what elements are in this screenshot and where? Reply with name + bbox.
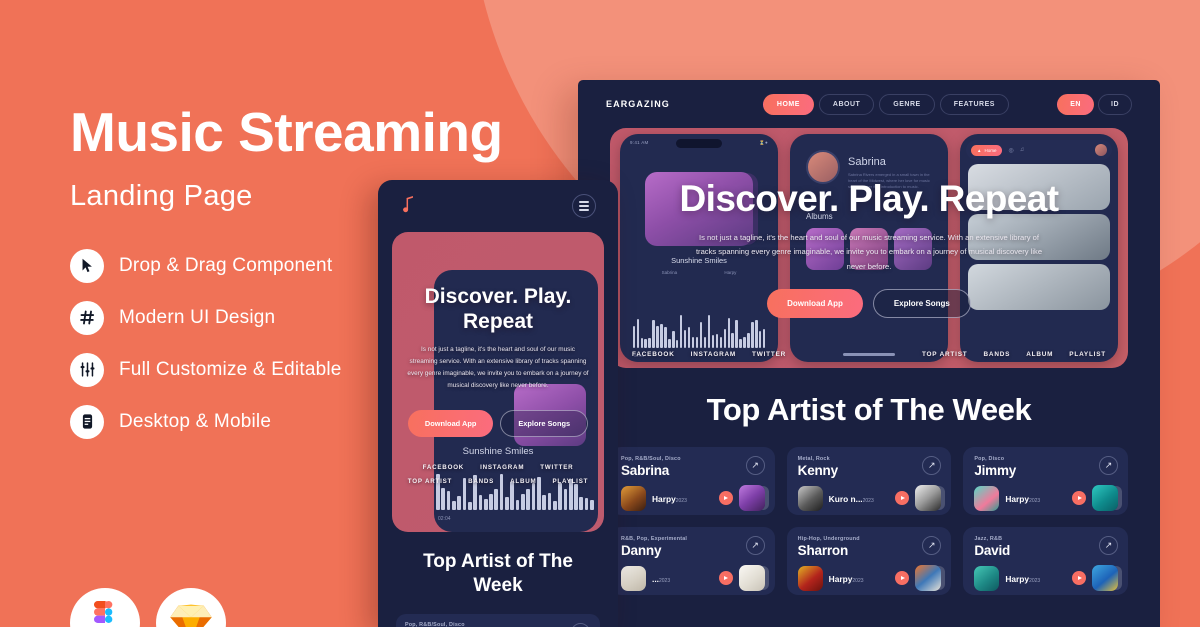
artist-card-genre: Metal, Rock <box>798 456 942 462</box>
hero-link-rows: FACEBOOK INSTAGRAM TWITTER TOP ARTIST BA… <box>610 351 1128 358</box>
mobile-social-link-instagram[interactable]: INSTAGRAM <box>480 464 524 471</box>
language-id[interactable]: ID <box>1098 94 1132 115</box>
figma-logo <box>70 588 140 627</box>
artist-card-arrow-icon[interactable]: ↗ <box>746 536 765 555</box>
artist-card[interactable]: Pop, DiscoJimmy↗Harpy2023 <box>963 447 1128 515</box>
artist-card[interactable]: Jazz, R&BDavid↗Harpy2023 <box>963 527 1128 595</box>
mobile-hero-buttons: Download App Explore Songs <box>408 410 588 437</box>
track-year: 2023 <box>863 498 874 504</box>
track-name: Kuro n... <box>829 494 863 504</box>
mobile-track-title: Sunshine Smiles <box>463 446 534 457</box>
play-button[interactable] <box>1072 571 1086 585</box>
artist-card-name: David <box>974 543 1118 558</box>
mobile-social-links: FACEBOOK INSTAGRAM TWITTER <box>423 464 574 471</box>
artist-card-name: Danny <box>621 543 765 558</box>
feature-label: Drop & Drag Component <box>119 255 332 277</box>
social-link-twitter[interactable]: TWITTER <box>752 351 786 358</box>
nav-menu: HOME ABOUT GENRE FEATURES <box>763 94 1009 115</box>
artist-card-genre: R&B, Pop, Experimental <box>621 536 765 542</box>
feature-label: Desktop & Mobile <box>119 411 271 433</box>
track-name: Harpy <box>1005 574 1029 584</box>
album-cover <box>915 485 941 511</box>
artist-card-track-row: ...2023 <box>621 565 765 591</box>
artist-card-arrow-icon[interactable]: ↗ <box>1099 456 1118 475</box>
nav-item-genre[interactable]: GENRE <box>879 94 934 115</box>
feature-label: Full Customize & Editable <box>119 359 342 381</box>
artist-card-genre: Pop, R&B/Soul, Disco <box>621 456 765 462</box>
track-name: Harpy <box>1005 494 1029 504</box>
mobile-hero-title: Discover. Play. Repeat <box>392 284 604 334</box>
desktop-navbar: EARGAZING HOME ABOUT GENRE FEATURES EN I… <box>578 80 1160 128</box>
mobile-mockup: 02:04 Discover. Play. Repeat Is not just… <box>378 180 618 627</box>
hamburger-icon[interactable] <box>572 194 596 218</box>
track-name: Harpy <box>652 494 676 504</box>
hero-copy-overlay: Discover. Play. Repeat Is not just a tag… <box>610 128 1128 368</box>
mobile-category-link-top-artist[interactable]: TOP ARTIST <box>408 478 452 485</box>
mobile-category-links: TOP ARTIST BANDS ALBUM PLAYLIST <box>408 478 588 485</box>
sliders-icon <box>70 353 104 387</box>
track-thumbnail <box>621 486 646 511</box>
social-link-facebook[interactable]: FACEBOOK <box>632 351 675 358</box>
mobile-category-link-album[interactable]: ALBUM <box>510 478 536 485</box>
explore-songs-button[interactable]: Explore Songs <box>873 289 971 318</box>
mobile-hero-section: 02:04 Discover. Play. Repeat Is not just… <box>392 232 604 532</box>
play-button[interactable] <box>719 491 733 505</box>
mobile-hero-overlay: Discover. Play. Repeat Is not just a tag… <box>392 232 604 532</box>
mobile-icon <box>70 405 104 439</box>
hero-buttons: Download App Explore Songs <box>767 289 971 318</box>
play-button[interactable] <box>895 491 909 505</box>
nav-item-features[interactable]: FEATURES <box>940 94 1009 115</box>
sketch-logo <box>156 588 226 627</box>
download-app-button[interactable]: Download App <box>767 289 863 318</box>
category-links: TOP ARTIST BANDS ALBUM PLAYLIST <box>922 351 1106 358</box>
track-year: 2023 <box>1029 578 1040 584</box>
cursor-icon <box>70 249 104 283</box>
track-thumbnail <box>798 486 823 511</box>
artist-card-name: Sabrina <box>621 463 765 478</box>
track-thumbnail <box>621 566 646 591</box>
feature-label: Modern UI Design <box>119 307 275 329</box>
language-switcher: EN ID <box>1057 94 1132 115</box>
tool-logos <box>70 588 226 627</box>
play-button[interactable] <box>719 571 733 585</box>
social-links: FACEBOOK INSTAGRAM TWITTER <box>632 351 786 358</box>
hero-body-text: Is not just a tagline, it's the heart an… <box>692 231 1047 273</box>
track-thumbnail <box>974 486 999 511</box>
mobile-explore-songs-button[interactable]: Explore Songs <box>500 410 588 437</box>
category-link-bands[interactable]: BANDS <box>983 351 1010 358</box>
track-year: 2023 <box>659 578 670 584</box>
mobile-topbar <box>378 180 618 232</box>
artist-card-genre: Pop, Disco <box>974 456 1118 462</box>
artist-card-genre: Hip-Hop, Underground <box>798 536 942 542</box>
album-cover <box>915 565 941 591</box>
section-title-top-artist: Top Artist of The Week <box>578 392 1160 428</box>
album-cover <box>1092 485 1118 511</box>
artist-card-name: Jimmy <box>974 463 1118 478</box>
artist-card-track-row: Harpy2023 <box>621 485 765 511</box>
category-link-playlist[interactable]: PLAYLIST <box>1069 351 1106 358</box>
hash-icon <box>70 301 104 335</box>
artist-card[interactable]: Hip-Hop, UndergroundSharron↗Harpy2023 <box>787 527 952 595</box>
mobile-social-link-twitter[interactable]: TWITTER <box>540 464 573 471</box>
artist-card[interactable]: R&B, Pop, ExperimentalDanny↗...2023 <box>610 527 775 595</box>
album-cover <box>739 485 765 511</box>
artist-card-track-row: Harpy2023 <box>798 565 942 591</box>
track-year: 2023 <box>676 498 687 504</box>
mobile-artist-card[interactable]: Pop, R&B/Soul, Disco Sabrina ↗ <box>396 614 600 627</box>
hero-title: Discover. Play. Repeat <box>680 178 1059 220</box>
track-name: ... <box>652 574 659 584</box>
nav-item-home[interactable]: HOME <box>763 94 814 115</box>
desktop-mockup: EARGAZING HOME ABOUT GENRE FEATURES EN I… <box>578 80 1160 627</box>
social-link-instagram[interactable]: INSTAGRAM <box>691 351 736 358</box>
artist-card-track-row: Kuro n...2023 <box>798 485 942 511</box>
track-year: 2023 <box>852 578 863 584</box>
artist-card[interactable]: Metal, RockKenny↗Kuro n...2023 <box>787 447 952 515</box>
artist-card-track-row: Harpy2023 <box>974 565 1118 591</box>
artist-card-track-row: Harpy2023 <box>974 485 1118 511</box>
track-name: Harpy <box>829 574 853 584</box>
mobile-hero-body: Is not just a tagline, it's the heart an… <box>407 344 589 391</box>
artist-card-name: Kenny <box>798 463 942 478</box>
category-link-album[interactable]: ALBUM <box>1026 351 1053 358</box>
artist-cards-grid: Pop, R&B/Soul, DiscoSabrina↗Harpy2023Met… <box>578 447 1160 595</box>
artist-card[interactable]: Pop, R&B/Soul, DiscoSabrina↗Harpy2023 <box>610 447 775 515</box>
mobile-category-link-bands[interactable]: BANDS <box>468 478 494 485</box>
track-thumbnail <box>974 566 999 591</box>
mobile-download-app-button[interactable]: Download App <box>408 410 493 437</box>
category-link-top-artist[interactable]: TOP ARTIST <box>922 351 968 358</box>
play-button[interactable] <box>1072 491 1086 505</box>
music-note-icon[interactable] <box>400 194 415 218</box>
album-cover <box>1092 565 1118 591</box>
artist-card-arrow-icon[interactable]: ↗ <box>746 456 765 475</box>
language-en[interactable]: EN <box>1057 94 1094 115</box>
nav-item-about[interactable]: ABOUT <box>819 94 874 115</box>
artist-card-arrow-icon[interactable]: ↗ <box>1099 536 1118 555</box>
track-year: 2023 <box>1029 498 1040 504</box>
mobile-category-link-playlist[interactable]: PLAYLIST <box>552 478 588 485</box>
artist-card-genre: Jazz, R&B <box>974 536 1118 542</box>
mobile-social-link-facebook[interactable]: FACEBOOK <box>423 464 464 471</box>
mobile-card-genre: Pop, R&B/Soul, Disco <box>405 622 591 627</box>
mobile-section-title: Top Artist of The Week <box>396 550 600 598</box>
album-cover <box>739 565 765 591</box>
artist-card-name: Sharron <box>798 543 942 558</box>
track-thumbnail <box>798 566 823 591</box>
desktop-hero-section: 9:41 AM ⏳● Sunshine Smiles Sabrina Harpy… <box>610 128 1128 368</box>
play-button[interactable] <box>895 571 909 585</box>
brand-logo[interactable]: EARGAZING <box>606 99 670 109</box>
page-title: Music Streaming <box>70 104 540 162</box>
